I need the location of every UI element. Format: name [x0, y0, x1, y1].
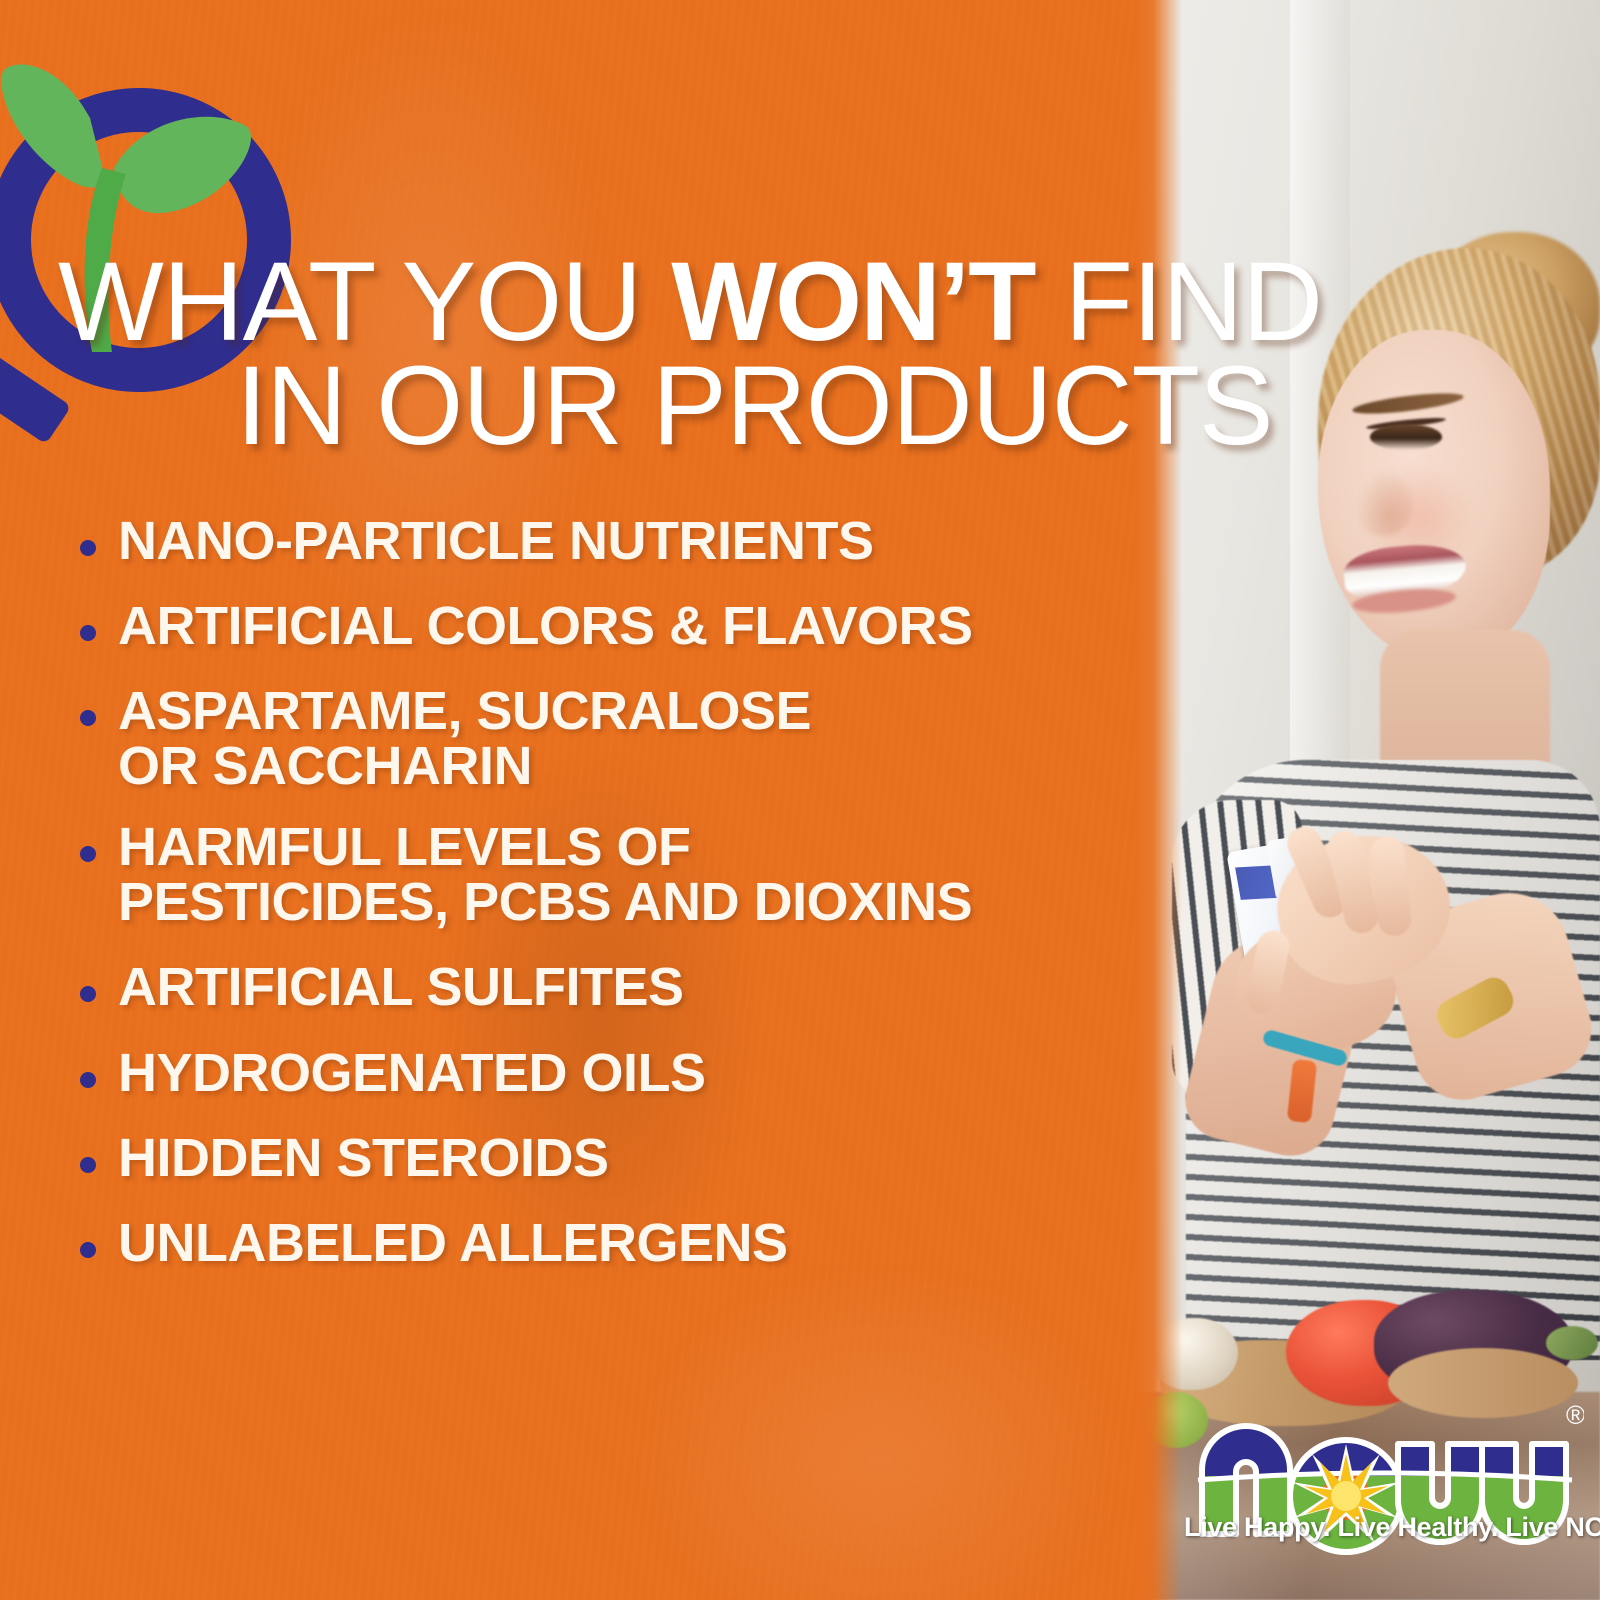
- list-item: HARMFUL LEVELS OF PESTICIDES, PCBS AND D…: [80, 820, 1130, 930]
- bullet-dot-icon: [80, 986, 96, 1002]
- list-item: HIDDEN STEROIDS: [80, 1131, 1130, 1186]
- bullet-dot-icon: [80, 1242, 96, 1258]
- list-item-label: ARTIFICIAL COLORS & FLAVORS: [118, 599, 972, 654]
- bullet-dot-icon: [80, 540, 96, 556]
- list-item: UNLABELED ALLERGENS: [80, 1216, 1130, 1271]
- excluded-ingredients-list: NANO-PARTICLE NUTRIENTS ARTIFICIAL COLOR…: [80, 514, 1130, 1301]
- list-item: ARTIFICIAL COLORS & FLAVORS: [80, 599, 1130, 654]
- page-title: WHAT YOU WON’T FIND IN OUR PRODUCTS: [58, 146, 1558, 563]
- list-item: NANO-PARTICLE NUTRIENTS: [80, 514, 1130, 569]
- registered-trademark-icon: ®: [1566, 1400, 1584, 1430]
- bullet-dot-icon: [80, 710, 96, 726]
- brand-tagline: Live Happy. Live Healthy. Live NOW.: [1184, 1512, 1580, 1543]
- list-item: ARTIFICIAL SULFITES: [80, 960, 1130, 1015]
- list-item-label: UNLABELED ALLERGENS: [118, 1216, 788, 1271]
- bullet-dot-icon: [80, 846, 96, 862]
- promo-poster: WHAT YOU WON’T FIND IN OUR PRODUCTS NANO…: [0, 0, 1600, 1600]
- bullet-dot-icon: [80, 1157, 96, 1173]
- list-item-label: NANO-PARTICLE NUTRIENTS: [118, 514, 873, 569]
- list-item-label: ARTIFICIAL SULFITES: [118, 960, 684, 1015]
- bullet-dot-icon: [80, 1072, 96, 1088]
- list-item-label: HYDROGENATED OILS: [118, 1046, 706, 1101]
- bullet-dot-icon: [80, 625, 96, 641]
- photo-eggplant-stem: [1546, 1326, 1598, 1360]
- list-item: HYDROGENATED OILS: [80, 1046, 1130, 1101]
- list-item-label: ASPARTAME, SUCRALOSE OR SACCHARIN: [118, 684, 811, 794]
- headline-line-2: IN OUR PRODUCTS: [236, 354, 1558, 458]
- list-item: ASPARTAME, SUCRALOSE OR SACCHARIN: [80, 684, 1130, 794]
- list-item-label: HIDDEN STEROIDS: [118, 1131, 609, 1186]
- list-item-label: HARMFUL LEVELS OF PESTICIDES, PCBS AND D…: [118, 820, 972, 930]
